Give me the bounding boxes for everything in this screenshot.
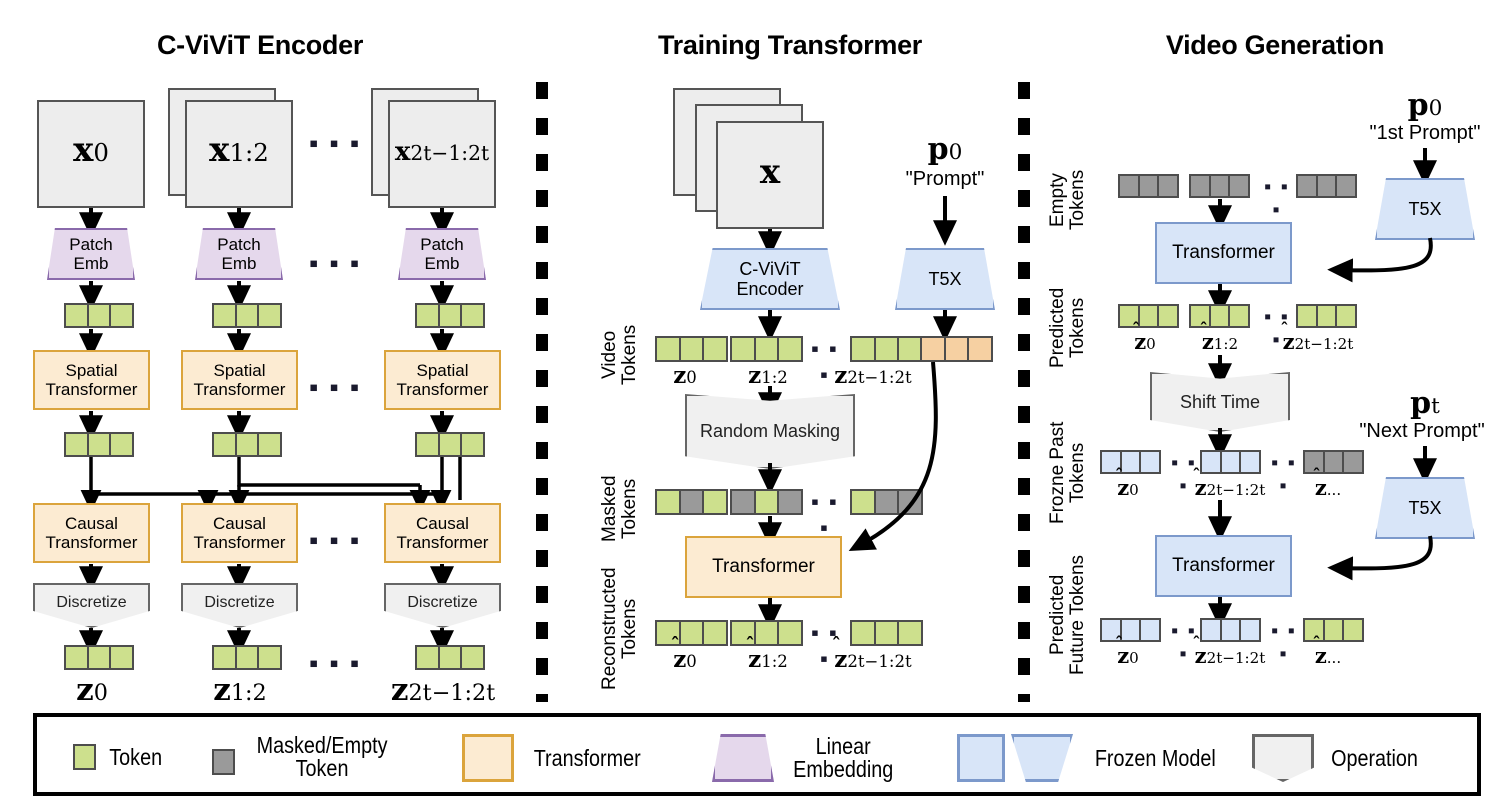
- predicted-label-2-subscript: 2t−1:2t: [1295, 335, 1354, 353]
- causal-transformer-2-line2: Transformer: [397, 533, 489, 552]
- row-label-reconstructed-tokens: ReconstructedTokens: [600, 556, 648, 701]
- legend-label-token: Token: [109, 746, 162, 769]
- token: [730, 336, 756, 362]
- row-label-empty-l1: Empty: [1047, 173, 1068, 227]
- spatial-transformer-1-line1: Spatial: [214, 361, 266, 380]
- future-label-0: ̂z0: [1088, 643, 1168, 668]
- frozen-token: [1139, 618, 1161, 642]
- discretize-0-label: Discretize: [56, 594, 126, 612]
- token: [64, 432, 89, 457]
- row-label-frozen-l1: Frozne Past: [1047, 422, 1068, 524]
- arrow-patchemb0-to-tokens: [84, 281, 98, 305]
- causal-transformer-1-line2: Transformer: [194, 533, 286, 552]
- token: [257, 645, 282, 670]
- empty-token-strip-0: [1118, 174, 1179, 198]
- text-token: [967, 336, 993, 362]
- panel-title-training: Training Transformer: [570, 30, 1010, 61]
- cvivit-encoder-line2: Encoder: [736, 279, 803, 299]
- frozen-token-strip-1: [1200, 450, 1261, 474]
- frozen-label-1-subscript: 2t−1:2t: [1207, 481, 1266, 499]
- token: [777, 336, 803, 362]
- cvivit-encoder-block: C-ViViTEncoder: [700, 248, 840, 310]
- token: [897, 620, 923, 646]
- row-label-future-l1: Predicted: [1047, 575, 1068, 655]
- token-strip-output-0: [64, 645, 134, 670]
- frozen-label-1: ̂z2t−1:2t: [1175, 475, 1285, 500]
- frozen-token-strip-0: [1100, 450, 1161, 474]
- frozen-token: [1239, 618, 1261, 642]
- frozen-label-2: ̂z...: [1288, 475, 1368, 500]
- arrow-frozen-to-transformer2: [1213, 500, 1227, 536]
- legend-item-masked-token: Masked/Empty Token: [212, 734, 398, 780]
- empty-token: [1228, 174, 1250, 198]
- legend-label-frozen-model: Frozen Model: [1095, 747, 1216, 770]
- causal-transformer-0-line1: Causal: [65, 514, 118, 533]
- legend-item-frozen-model: Frozen Model: [957, 734, 1226, 782]
- frozen-label-0-subscript: 0: [1129, 481, 1139, 499]
- empty-token-ellipsis: ▪ ▪ ▪: [1257, 176, 1297, 222]
- generation-transformer-2-label: Transformer: [1172, 555, 1275, 576]
- token: [87, 645, 112, 670]
- output-label-2: z2t−1:2t: [368, 672, 518, 708]
- future-label-1-subscript: 2t−1:2t: [1207, 649, 1266, 667]
- patch-emb-block-1: PatchEmb: [195, 228, 283, 280]
- token: [109, 645, 134, 670]
- token: [64, 303, 89, 328]
- row-label-predicted-l2: Tokens: [1067, 297, 1088, 357]
- reconstructed-label-0: ̂z0: [640, 646, 730, 673]
- token: [874, 336, 900, 362]
- row-label-reconstructed-l2: Tokens: [619, 598, 640, 658]
- video-token-label-0: z0: [640, 362, 730, 389]
- spatial-transformer-1-line2: Transformer: [194, 380, 286, 399]
- row-label-empty-tokens: EmptyTokens: [1048, 155, 1096, 245]
- arrow-masking-to-maskedtokens: [763, 463, 777, 489]
- token: [1157, 304, 1179, 328]
- patch-emb-2-line2: Emb: [425, 254, 460, 273]
- future-token-strip-0: [1100, 618, 1161, 642]
- text-token: [920, 336, 946, 362]
- generation-prompt2-text: "Next Prompt": [1332, 420, 1512, 443]
- legend: Token Masked/Empty Token Transformer Lin…: [33, 713, 1481, 796]
- legend-item-token: Token: [73, 744, 166, 770]
- empty-token: [1342, 450, 1364, 474]
- token: [460, 303, 485, 328]
- output-label-1: z1:2: [190, 672, 290, 708]
- video-token-label-1-subscript: 1:2: [761, 368, 788, 387]
- token: [235, 645, 260, 670]
- arrow-frame-to-encoder: [763, 229, 777, 251]
- training-frame-label: x: [716, 152, 824, 192]
- causal-transformer-0: CausalTransformer: [33, 503, 150, 563]
- training-prompt-symbol: p0: [880, 132, 1010, 167]
- video-token-strip-0: [655, 336, 728, 362]
- token: [460, 432, 485, 457]
- token: [777, 620, 803, 646]
- blue-box-swatch: [957, 734, 1005, 782]
- causal-transformer-1-line1: Causal: [213, 514, 266, 533]
- token: [874, 620, 900, 646]
- token: [257, 432, 282, 457]
- token: [87, 432, 112, 457]
- frozen-token: [1139, 450, 1161, 474]
- patchemb-ellipsis: ▪ ▪ ▪: [305, 248, 365, 279]
- token: [235, 303, 260, 328]
- arrow-causal1-to-discretize: [232, 564, 246, 586]
- token-strip-embed-0: [64, 303, 134, 328]
- predicted-label-1-subscript: 1:2: [1214, 335, 1238, 353]
- row-label-reconstructed-l1: Reconstructed: [599, 567, 620, 690]
- grey-token-swatch: [212, 749, 235, 775]
- token: [655, 336, 681, 362]
- legend-label-linear-l2: Embedding: [793, 756, 893, 782]
- future-token-strip-1: [1200, 618, 1261, 642]
- cvivit-encoder-line1: C-ViViT: [739, 259, 800, 279]
- masked-token-strip-1: [730, 489, 803, 515]
- legend-item-operation: Operation: [1252, 734, 1425, 782]
- output-label-0-subscript: 0: [94, 680, 108, 706]
- legend-item-transformer: Transformer: [462, 734, 649, 782]
- generation-prompt1-symbol: p0: [1340, 88, 1510, 123]
- token: [415, 645, 440, 670]
- generation-transformer-1: Transformer: [1155, 222, 1292, 284]
- token: [212, 432, 237, 457]
- reconstructed-token-strip-1: [730, 620, 803, 646]
- text-token-strip: [920, 336, 993, 362]
- causal-transformer-1: CausalTransformer: [181, 503, 298, 563]
- token: [460, 645, 485, 670]
- output-label-1-subscript: 1:2: [231, 680, 267, 706]
- output-label-0: z0: [42, 672, 142, 708]
- token: [212, 645, 237, 670]
- patch-emb-1-line1: Patch: [217, 235, 260, 254]
- legend-label-masked-l2: Token: [296, 755, 349, 781]
- token: [655, 489, 681, 515]
- token: [850, 336, 876, 362]
- row-label-empty-l2: Tokens: [1067, 170, 1088, 230]
- generation-transformer-1-label: Transformer: [1172, 242, 1275, 263]
- causal-transformer-0-line2: Transformer: [46, 533, 138, 552]
- token: [850, 620, 876, 646]
- token-strip-spatial-out-2: [415, 432, 485, 457]
- token: [212, 303, 237, 328]
- empty-token: [1335, 174, 1357, 198]
- patch-emb-block-0: PatchEmb: [47, 228, 135, 280]
- row-label-future-l2: Future Tokens: [1067, 555, 1088, 675]
- predicted-label-0: ̂z0: [1105, 329, 1185, 354]
- panel-title-cvivit: C-ViViT Encoder: [0, 30, 520, 61]
- text-token: [944, 336, 970, 362]
- training-transformer-block: Transformer: [685, 536, 842, 598]
- spatial-transformer-0-line2: Transformer: [46, 380, 138, 399]
- arrow-prompt2-to-t5x: [1418, 446, 1432, 478]
- purple-trapezoid-swatch: [712, 734, 774, 782]
- input-frame-0-label: x0: [37, 130, 145, 170]
- spatial-transformer-0: SpatialTransformer: [33, 350, 150, 410]
- output-ellipsis: ▪ ▪ ▪: [305, 648, 365, 679]
- token: [257, 303, 282, 328]
- token: [438, 432, 463, 457]
- green-token-swatch: [73, 744, 96, 770]
- predicted-token-strip-0: [1118, 304, 1179, 328]
- spatial-transformer-1: SpatialTransformer: [181, 350, 298, 410]
- t5x-label-generation-1: T5X: [1408, 199, 1441, 219]
- predicted-label-2: ̂z2t−1:2t: [1258, 329, 1378, 354]
- row-label-video-tokens-l1: Video: [599, 331, 620, 379]
- generation-prompt1-subscript: 0: [1429, 96, 1443, 121]
- arrow-t5x-to-texttokens: [938, 310, 952, 336]
- patch-emb-1-line2: Emb: [222, 254, 257, 273]
- frozen-label-2-subscript: ...: [1327, 481, 1341, 499]
- grey-operation-swatch: [1252, 734, 1314, 782]
- discretize-block-2: Discretize: [384, 583, 501, 628]
- token: [415, 303, 440, 328]
- training-transformer-label: Transformer: [712, 556, 815, 577]
- generation-prompt2-subscript: t: [1431, 394, 1440, 419]
- reconstructed-label-1: ̂z1:2: [723, 646, 813, 673]
- token-strip-embed-1: [212, 303, 282, 328]
- token: [64, 645, 89, 670]
- arrow-t5x1-to-transformer1: [1290, 238, 1440, 288]
- spatial-ellipsis: ▪ ▪ ▪: [305, 372, 365, 403]
- input-frame-0-subscript: 0: [93, 138, 109, 167]
- patch-emb-0-line2: Emb: [74, 254, 109, 273]
- token: [679, 336, 705, 362]
- row-label-frozen-past-tokens: Frozne PastTokens: [1048, 398, 1096, 548]
- frames-ellipsis: ▪ ▪ ▪: [305, 128, 365, 159]
- orange-box-swatch: [462, 734, 514, 782]
- token: [438, 645, 463, 670]
- token-strip-output-2: [415, 645, 485, 670]
- video-token-strip-2: [850, 336, 923, 362]
- discretize-2-label: Discretize: [407, 594, 477, 612]
- future-label-0-subscript: 0: [1129, 649, 1139, 667]
- training-prompt-text: "Prompt": [880, 168, 1010, 191]
- generation-transformer-2: Transformer: [1155, 535, 1292, 597]
- arrow-t5x2-to-transformer2: [1290, 536, 1440, 586]
- future-label-2: ̂z...: [1288, 643, 1368, 668]
- t5x-block-generation-1: T5X: [1375, 178, 1475, 240]
- panel-divider-left: [534, 82, 550, 702]
- future-label-2-subscript: ...: [1327, 649, 1341, 667]
- token: [438, 303, 463, 328]
- token-strip-embed-2: [415, 303, 485, 328]
- legend-label-transformer: Transformer: [534, 747, 641, 770]
- panel-title-generation: Video Generation: [1040, 30, 1510, 61]
- patch-emb-0-line1: Patch: [69, 235, 112, 254]
- token: [109, 303, 134, 328]
- input-frame-1-subscript: 1:2: [229, 138, 268, 167]
- token-strip-output-1: [212, 645, 282, 670]
- row-label-frozen-l2: Tokens: [1067, 443, 1088, 503]
- row-label-masked-tokens-l2: Tokens: [619, 478, 640, 538]
- t5x-block-generation-2: T5X: [1375, 477, 1475, 539]
- arrow-encoder-to-videotokens: [763, 310, 777, 336]
- empty-token: [1157, 174, 1179, 198]
- video-token-label-0-subscript: 0: [686, 368, 697, 387]
- input-frame-2-label: x2t−1:2t: [380, 137, 504, 167]
- arrow-prompt-to-t5x: [938, 196, 952, 240]
- shift-time-block: Shift Time: [1150, 372, 1290, 432]
- generation-prompt1-text: "1st Prompt": [1340, 122, 1510, 145]
- predicted-label-0-subscript: 0: [1146, 335, 1156, 353]
- masked-token: [679, 489, 705, 515]
- masked-token-strip-0: [655, 489, 728, 515]
- causal-ellipsis: ▪ ▪ ▪: [305, 525, 365, 556]
- reconstructed-label-1-subscript: 1:2: [761, 652, 788, 671]
- generation-prompt2-symbol: pt: [1340, 386, 1510, 421]
- arrow-patchemb2-to-tokens: [435, 281, 449, 305]
- spatial-transformer-2-line2: Transformer: [397, 380, 489, 399]
- frozen-token: [1239, 450, 1261, 474]
- future-label-1: ̂z2t−1:2t: [1175, 643, 1285, 668]
- reconstructed-label-0-subscript: 0: [686, 652, 697, 671]
- token: [415, 432, 440, 457]
- discretize-block-0: Discretize: [33, 583, 150, 628]
- training-prompt-subscript: 0: [949, 140, 963, 165]
- token: [235, 432, 260, 457]
- patch-emb-2-line1: Patch: [420, 235, 463, 254]
- spatial-transformer-2: SpatialTransformer: [384, 350, 501, 410]
- token: [1342, 618, 1364, 642]
- row-label-video-tokens-l2: Tokens: [619, 325, 640, 385]
- token-strip-spatial-out-1: [212, 432, 282, 457]
- blue-box-and-trapezoid-swatch: [957, 734, 1073, 782]
- output-label-2-subscript: 2t−1:2t: [408, 680, 495, 706]
- causal-transformer-2-line1: Causal: [416, 514, 469, 533]
- arrow-causal2-to-discretize: [435, 564, 449, 586]
- t5x-block-training: T5X: [895, 248, 995, 310]
- discretize-1-label: Discretize: [204, 594, 274, 612]
- input-frame-1-label: x1:2: [185, 130, 293, 170]
- reconstructed-token-strip-2: [850, 620, 923, 646]
- token: [702, 336, 728, 362]
- future-token-strip-2: [1303, 618, 1364, 642]
- panel-divider-right: [1016, 82, 1032, 702]
- discretize-block-1: Discretize: [181, 583, 298, 628]
- reconstructed-label-2: ̂z2t−1:2t: [808, 646, 938, 673]
- arrow-prompt1-to-t5x: [1418, 148, 1432, 180]
- spatial-transformer-2-line1: Spatial: [417, 361, 469, 380]
- predicted-token-strip-1: [1189, 304, 1250, 328]
- t5x-label-generation-2: T5X: [1408, 498, 1441, 518]
- frozen-label-0: ̂z0: [1088, 475, 1168, 500]
- reconstructed-label-2-subscript: 2t−1:2t: [847, 652, 911, 671]
- token: [1335, 304, 1357, 328]
- token: [109, 432, 134, 457]
- empty-token-strip-2: [1296, 174, 1357, 198]
- empty-token-strip-1: [1189, 174, 1250, 198]
- patch-emb-block-2: PatchEmb: [398, 228, 486, 280]
- token-strip-spatial-out-0: [64, 432, 134, 457]
- frozen-token-strip-2: [1303, 450, 1364, 474]
- video-token-strip-1: [730, 336, 803, 362]
- legend-item-linear-embedding: Linear Embedding: [712, 734, 901, 782]
- t5x-label-training: T5X: [928, 269, 961, 289]
- token: [1228, 304, 1250, 328]
- predicted-label-1: ̂z1:2: [1180, 329, 1260, 354]
- row-label-predicted-tokens: PredictedTokens: [1048, 270, 1096, 385]
- token: [702, 489, 728, 515]
- legend-label-operation: Operation: [1331, 747, 1418, 770]
- spatial-transformer-0-line1: Spatial: [66, 361, 118, 380]
- masked-token: [730, 489, 756, 515]
- input-frame-2-subscript: 2t−1:2t: [410, 141, 489, 165]
- row-label-masked-tokens: MaskedTokens: [600, 456, 648, 561]
- arrow-patchemb1-to-tokens: [232, 281, 246, 305]
- predicted-token-strip-2: [1296, 304, 1357, 328]
- token: [87, 303, 112, 328]
- blue-trapezoid-swatch: [1011, 734, 1073, 782]
- token: [754, 336, 780, 362]
- token: [702, 620, 728, 646]
- row-label-masked-tokens-l1: Masked: [599, 475, 620, 542]
- shift-time-label: Shift Time: [1180, 392, 1260, 412]
- arrow-causal0-to-discretize: [84, 564, 98, 586]
- row-label-predicted-l1: Predicted: [1047, 287, 1068, 367]
- reconstructed-token-strip-0: [655, 620, 728, 646]
- token: [754, 489, 780, 515]
- causal-transformer-2: CausalTransformer: [384, 503, 501, 563]
